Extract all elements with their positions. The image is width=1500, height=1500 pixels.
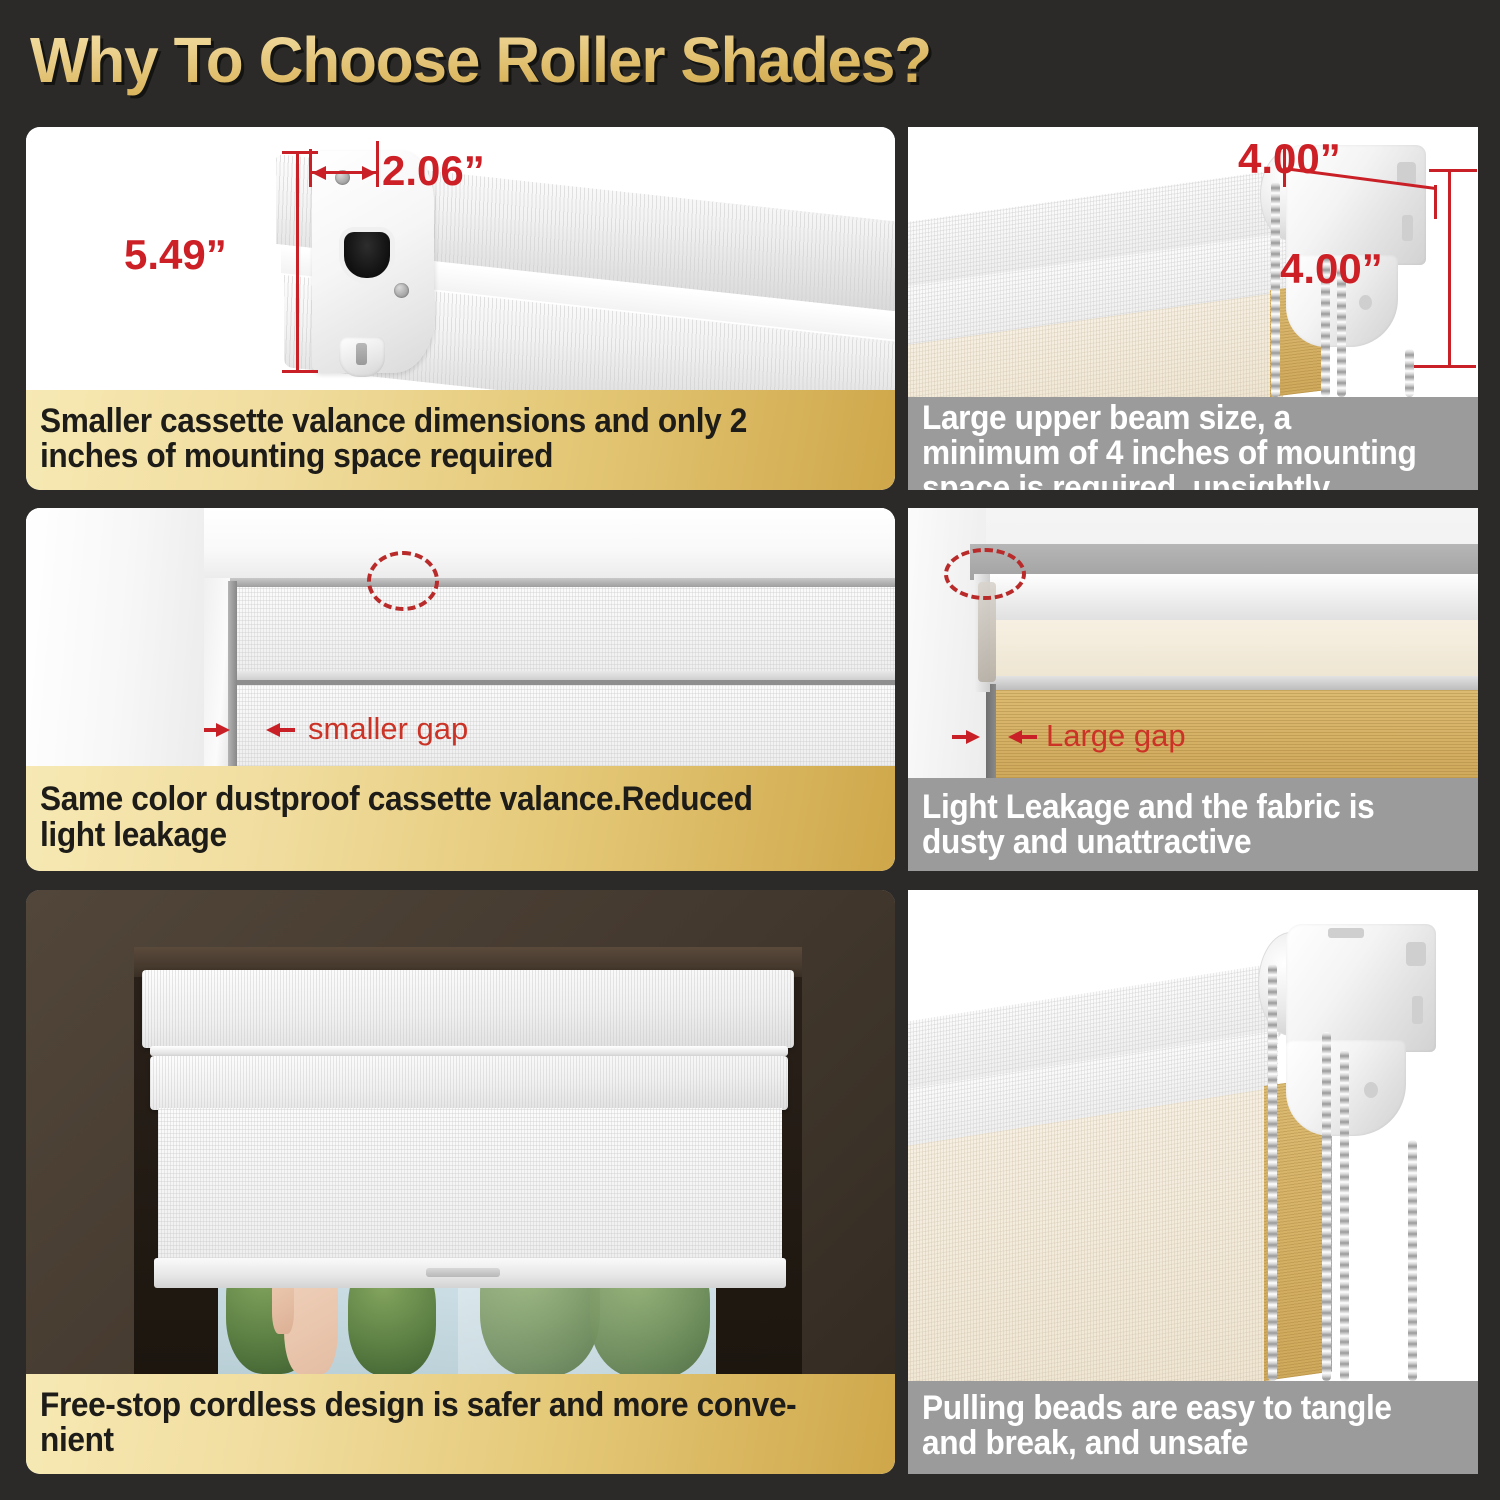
bracket-slot-bottom xyxy=(1359,295,1372,310)
dim2-height-label: 4.00” xyxy=(1280,245,1383,293)
panel-2-caption-text: Large upper beam size, a minimum of 4 in… xyxy=(922,401,1426,490)
gap-arrow-left-stem xyxy=(952,735,968,739)
panel-6-photo xyxy=(908,890,1478,1381)
cassette-valance-shadow-line xyxy=(233,671,895,680)
panel-1-caption-bar: Smaller cassette valance dimensions and … xyxy=(26,390,895,490)
panel-3-photo: smaller gap xyxy=(26,508,895,766)
fabric-cream-edge xyxy=(980,676,1478,690)
panel-light-leakage: Large gap Light Leakage and the fabric i… xyxy=(908,508,1478,871)
dim2-width-label: 4.00” xyxy=(1238,135,1341,183)
dim-2-06-label: 2.06” xyxy=(382,147,485,195)
dim-5-49-label: 5.49” xyxy=(124,231,227,279)
gap-arrow-right xyxy=(266,723,280,737)
panel-cordless-design: Free-stop cordless design is safer and m… xyxy=(26,890,895,1474)
panel-2-photo: 4.00” 4.00” xyxy=(908,127,1478,397)
valance-groove xyxy=(150,1046,788,1056)
bead-chain-3 xyxy=(1340,1050,1349,1381)
bead-chain-1 xyxy=(1271,182,1280,397)
gap-callout-label: smaller gap xyxy=(308,711,468,747)
dim-2-06-tick-right xyxy=(376,141,379,187)
roller-tube xyxy=(974,574,1478,624)
end-cap-screw-lower xyxy=(394,283,409,298)
dim-2-06-arrow-left xyxy=(312,166,326,180)
cassette-valance-face xyxy=(233,587,895,673)
fabric-cream-band xyxy=(980,620,1478,678)
gap-arrow-left-stem xyxy=(204,728,218,732)
bead-chain-1 xyxy=(1268,964,1277,1381)
panel-1-caption-text: Smaller cassette valance dimensions and … xyxy=(40,404,822,474)
valance-lower-lip xyxy=(150,1056,788,1110)
panel-large-upper-beam: 4.00” 4.00” Large upper beam size, a min… xyxy=(908,127,1478,490)
page-title: Why To Choose Roller Shades? xyxy=(30,20,1097,100)
gap-arrow-right-stem xyxy=(1021,735,1037,739)
dim2-width-tick-right xyxy=(1434,185,1437,219)
infographic-root: Why To Choose Roller Shades? Why To Choo… xyxy=(0,0,1500,1500)
panel-smaller-cassette: 2.06” 5.49” Smaller cassette valance dim… xyxy=(26,127,895,490)
gap-arrow-right-stem xyxy=(279,728,295,732)
panel-5-photo xyxy=(26,890,895,1374)
panel-3-caption-bar: Same color dustproof cassette valance.Re… xyxy=(26,766,895,871)
gap-callout-label: Large gap xyxy=(1046,718,1186,754)
panel-5-caption-bar: Free-stop cordless design is safer and m… xyxy=(26,1374,895,1474)
panel-5-caption-text: Free-stop cordless design is safer and m… xyxy=(40,1388,822,1458)
bottom-rail-grip xyxy=(426,1268,500,1277)
dim2-height-tick-top xyxy=(1429,169,1477,172)
clutch-recess xyxy=(344,232,390,278)
dim-5-49-line xyxy=(296,151,299,373)
window-frame-head xyxy=(204,508,895,578)
cassette-valance-top-lip xyxy=(230,578,895,587)
gap-arrow-left xyxy=(966,730,980,744)
window-frame-outer xyxy=(26,508,226,766)
panel-6-caption-text: Pulling beads are easy to tangle and bre… xyxy=(922,1391,1426,1461)
panel-4-photo: Large gap xyxy=(908,508,1478,778)
panel-2-caption-bar: Large upper beam size, a minimum of 4 in… xyxy=(908,397,1478,490)
bracket-slot-bottom xyxy=(1364,1082,1378,1098)
panel-6-caption-bar: Pulling beads are easy to tangle and bre… xyxy=(908,1381,1478,1474)
panel-4-caption-text: Light Leakage and the fabric is dusty an… xyxy=(922,790,1426,860)
roller-shade-fabric xyxy=(158,1108,782,1262)
bead-chain-2 xyxy=(1322,1032,1331,1381)
bracket-slot-top xyxy=(1397,162,1416,184)
panel-1-photo: 2.06” 5.49” xyxy=(26,127,895,390)
highlight-dashed-ellipse xyxy=(944,548,1026,600)
panel-4-caption-bar: Light Leakage and the fabric is dusty an… xyxy=(908,778,1478,871)
light-gap-dark-strip xyxy=(986,684,996,778)
dim-2-06-arrow-right xyxy=(362,166,376,180)
bracket-slot-top xyxy=(1406,942,1426,966)
gap-arrow-right xyxy=(1008,730,1022,744)
panel-dustproof-cassette: smaller gap Same color dustproof cassett… xyxy=(26,508,895,871)
cassette-valance xyxy=(142,970,794,1048)
dim-5-49-tick-bottom xyxy=(282,370,318,373)
dashed-circle-seam-highlight xyxy=(367,551,439,611)
side-channel xyxy=(228,581,237,766)
dim2-height-line xyxy=(1448,169,1451,367)
bracket-slot-mid xyxy=(1412,996,1423,1024)
gap-arrow-left xyxy=(216,723,230,737)
bead-chain-4 xyxy=(1408,1140,1417,1381)
dim-5-49-tick-top xyxy=(282,151,318,154)
bracket-slot-mid xyxy=(1402,215,1413,241)
bead-chain-4 xyxy=(1405,349,1414,397)
panel-pulling-beads: Pulling beads are easy to tangle and bre… xyxy=(908,890,1478,1474)
panel-3-caption-text: Same color dustproof cassette valance.Re… xyxy=(40,782,822,852)
dim2-height-tick-bottom xyxy=(1414,365,1476,368)
bracket-clip-notch xyxy=(1328,928,1364,938)
bottom-bracket-pin xyxy=(356,343,367,365)
